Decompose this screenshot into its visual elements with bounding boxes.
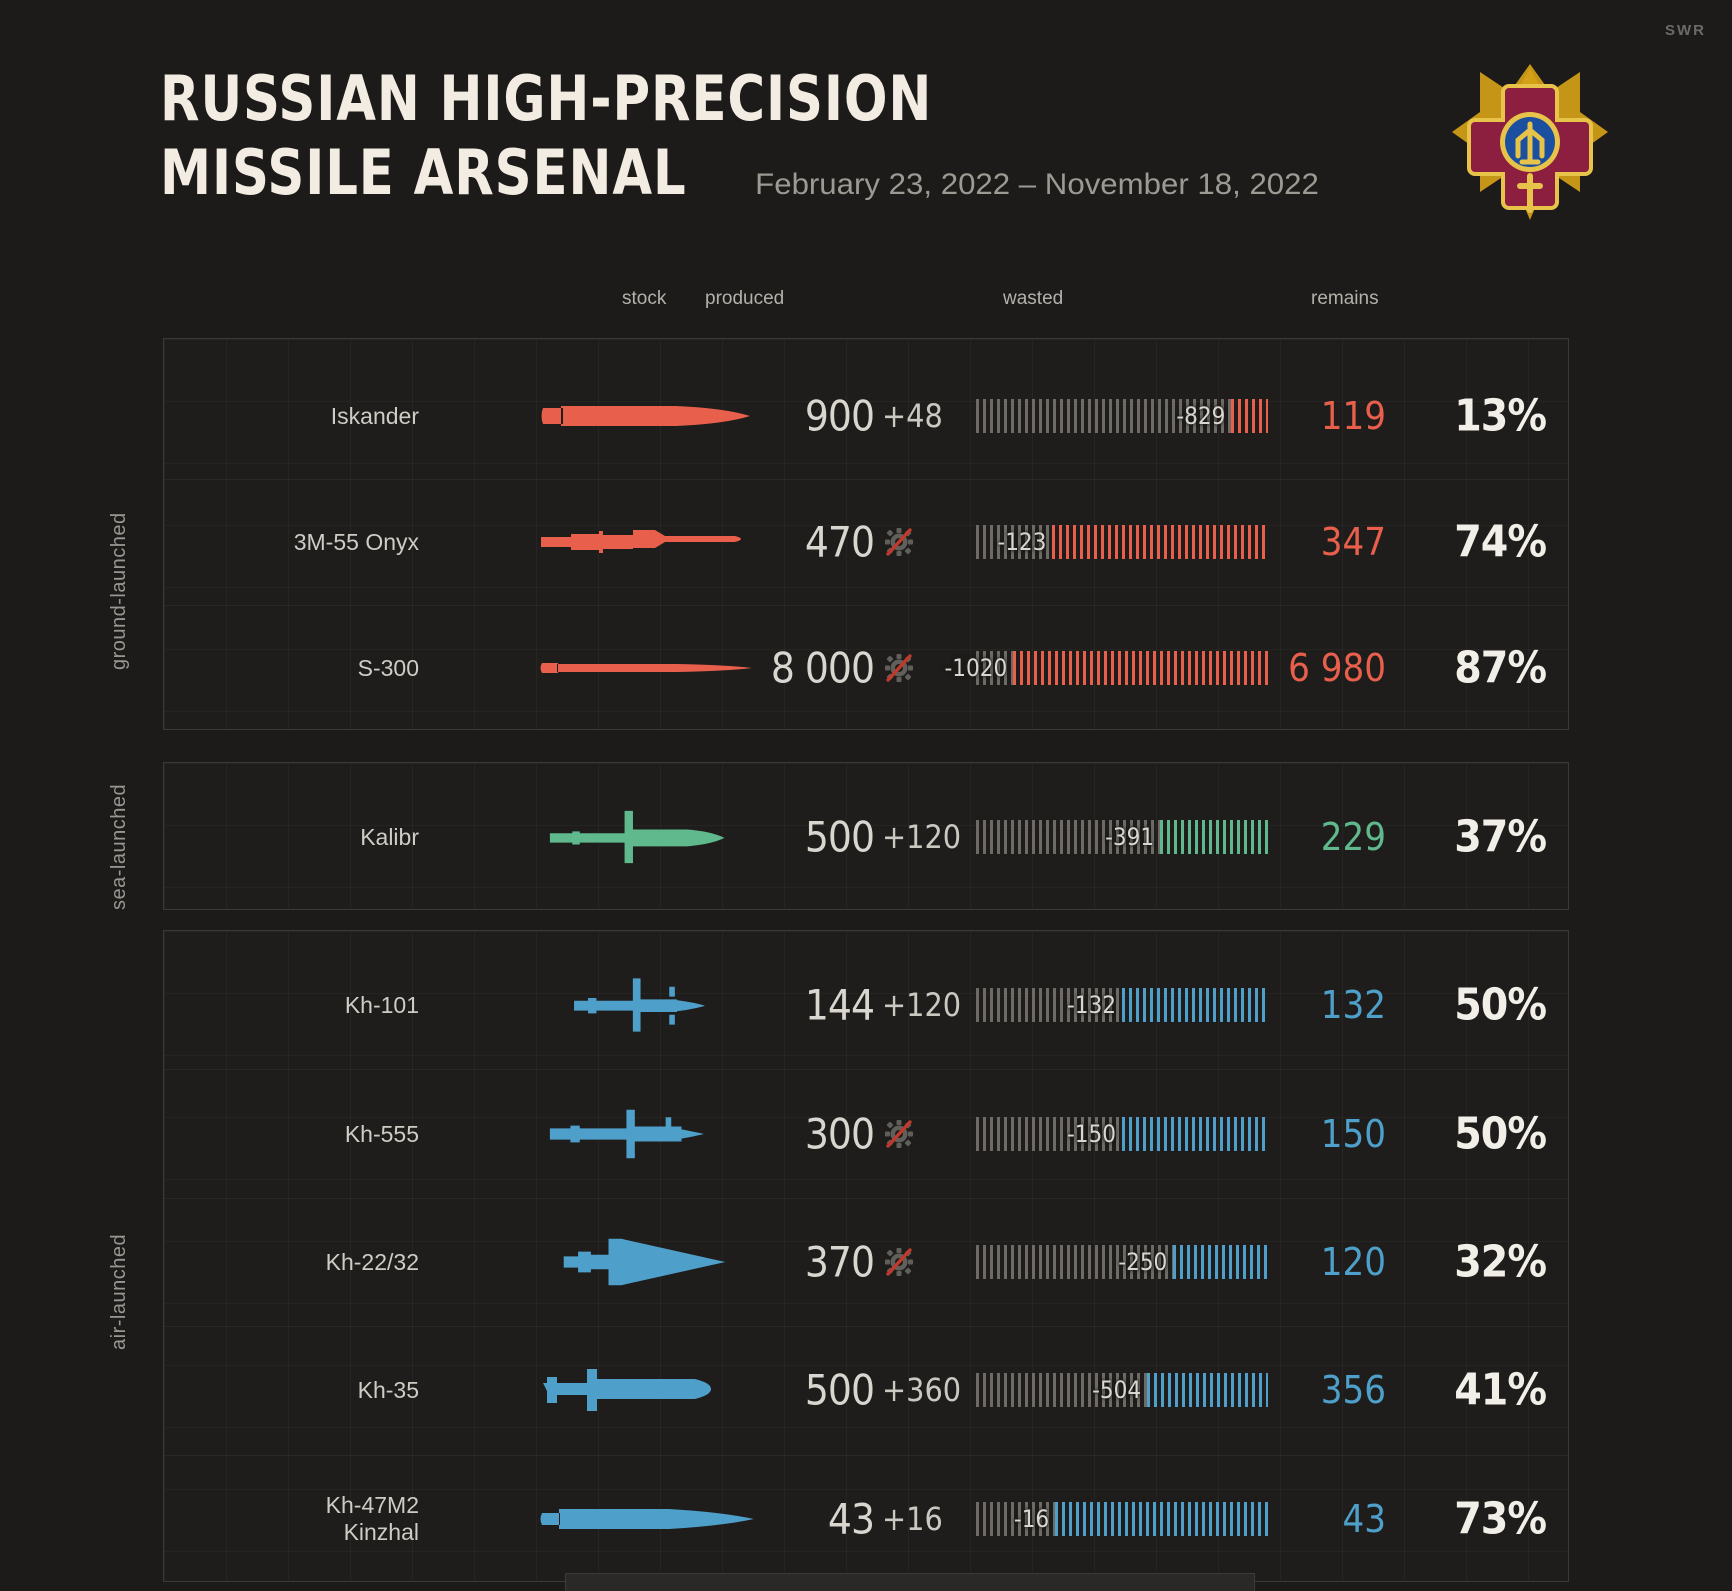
table-row[interactable]: 3M-55 Onyx470 -12334774%: [164, 479, 1568, 605]
bar-segment-wasted: -250: [976, 1245, 1173, 1279]
stock-value: 500: [754, 813, 874, 862]
remains-percent: 13%: [1396, 391, 1546, 442]
produced-none-icon: [882, 1117, 978, 1151]
column-header-produced: produced: [705, 288, 784, 310]
produced-value: +120: [882, 818, 978, 856]
group-label-air-launched: air-launched: [108, 1140, 131, 1350]
missile-s300-icon: [539, 640, 754, 696]
bar-segment-wasted: -391: [976, 820, 1160, 854]
remains-percent: 41%: [1396, 1365, 1546, 1416]
bar-segment-wasted: -150: [976, 1117, 1122, 1151]
missile-name: Kh-47M2Kinzhal: [224, 1492, 419, 1546]
remains-value: 150: [1236, 1112, 1386, 1156]
remains-percent: 37%: [1396, 812, 1546, 863]
remains-percent: 73%: [1396, 1493, 1546, 1544]
missile-iskander-icon: [539, 388, 754, 444]
stock-value: 900: [754, 392, 874, 441]
missile-name: 3M-55 Onyx: [224, 529, 419, 555]
bar-segment-wasted: -132: [976, 988, 1122, 1022]
table-row[interactable]: Kh-22/32370 -25012032%: [164, 1198, 1568, 1326]
stock-value: 8 000: [754, 644, 874, 693]
remains-percent: 50%: [1396, 1108, 1546, 1159]
missile-name: Kalibr: [224, 824, 419, 850]
produced-none-icon: [882, 1245, 978, 1279]
missile-kalibr-icon: [539, 809, 754, 865]
table-row[interactable]: Iskander900+48-82911913%: [164, 353, 1568, 479]
stock-value: 470: [754, 518, 874, 567]
column-header-remains: remains: [1311, 288, 1379, 310]
wasted-value: -123: [997, 528, 1046, 556]
usage-bar: -16: [976, 1502, 1268, 1536]
usage-bar: -829: [976, 399, 1268, 433]
page-title-line1: RUSSIAN HIGH-PRECISION: [160, 62, 1217, 136]
stock-value: 500: [754, 1366, 874, 1415]
wasted-value: -1020: [944, 654, 1007, 682]
group-panel-air-launched: Kh-101144+120-13213250%Kh-555300 -150150…: [163, 930, 1569, 1582]
usage-bar: -132: [976, 988, 1268, 1022]
wasted-value: -829: [1176, 402, 1225, 430]
missile-kh2232-icon: [539, 1234, 754, 1290]
stock-value: 300: [754, 1109, 874, 1158]
remains-value: 132: [1236, 983, 1386, 1027]
infographic-page: SWR RUSSIAN HIGH-PRECISION MISSILE ARSEN…: [0, 0, 1732, 1591]
bar-segment-wasted: -504: [976, 1373, 1147, 1407]
produced-value: +16: [882, 1500, 978, 1538]
remains-value: 43: [1236, 1497, 1386, 1541]
table-row[interactable]: Kh-47M2Kinzhal43+16-164373%: [164, 1455, 1568, 1583]
remains-value: 229: [1236, 815, 1386, 859]
missile-name: Kh-555: [224, 1121, 419, 1147]
missile-name: Iskander: [224, 403, 419, 429]
wasted-value: -250: [1118, 1248, 1167, 1276]
missile-kh101-icon: [539, 977, 754, 1033]
column-headers: stock produced wasted remains: [0, 288, 1732, 312]
remains-value: 119: [1236, 394, 1386, 438]
usage-bar: -1020: [976, 651, 1268, 685]
remains-percent: 74%: [1396, 517, 1546, 568]
usage-bar: -391: [976, 820, 1268, 854]
footer-scroll-bar[interactable]: [565, 1573, 1255, 1591]
table-row[interactable]: S-3008 000 -10206 98087%: [164, 605, 1568, 731]
wasted-value: -150: [1067, 1120, 1116, 1148]
missile-name: Kh-22/32: [224, 1249, 419, 1275]
missile-kh35-icon: [539, 1362, 754, 1418]
remains-value: 356: [1236, 1368, 1386, 1412]
stock-value: 144: [754, 981, 874, 1030]
produced-value: +360: [882, 1371, 978, 1409]
stock-value: 370: [754, 1237, 874, 1286]
page-title-line2: MISSILE ARSENAL: [160, 136, 687, 210]
remains-percent: 87%: [1396, 643, 1546, 694]
produced-none-icon: [882, 525, 978, 559]
missile-kinzhal-icon: [539, 1491, 754, 1547]
missile-kh555-icon: [539, 1106, 754, 1162]
stock-value: 43: [754, 1494, 874, 1543]
table-row[interactable]: Kh-35500+360-50435641%: [164, 1326, 1568, 1454]
date-range-subtitle: February 23, 2022 – November 18, 2022: [756, 168, 1320, 202]
usage-bar: -123: [976, 525, 1268, 559]
group-panel-ground-launched: Iskander900+48-82911913%3M-55 Onyx470 -1…: [163, 338, 1569, 730]
bar-segment-wasted: -16: [976, 1502, 1055, 1536]
remains-percent: 32%: [1396, 1236, 1546, 1287]
missile-name: Kh-35: [224, 1377, 419, 1403]
produced-value: +120: [882, 986, 978, 1024]
usage-bar: -250: [976, 1245, 1268, 1279]
remains-value: 6 980: [1236, 646, 1386, 690]
bar-segment-remains: [1013, 651, 1268, 685]
table-row[interactable]: Kalibr500+120-39122937%: [164, 763, 1568, 911]
table-row[interactable]: Kh-101144+120-13213250%: [164, 941, 1568, 1069]
page-header: RUSSIAN HIGH-PRECISION MISSILE ARSENAL F…: [160, 62, 1308, 210]
group-label-ground-launched: ground-launched: [108, 455, 131, 670]
wasted-value: -391: [1105, 823, 1154, 851]
remains-value: 120: [1236, 1240, 1386, 1284]
usage-bar: -150: [976, 1117, 1268, 1151]
table-row[interactable]: Kh-555300 -15015050%: [164, 1069, 1568, 1197]
group-panel-sea-launched: Kalibr500+120-39122937%: [163, 762, 1569, 910]
usage-bar: -504: [976, 1373, 1268, 1407]
missile-name: S-300: [224, 655, 419, 681]
bar-segment-wasted: -1020: [976, 651, 1013, 685]
bar-segment-wasted: -123: [976, 525, 1052, 559]
bar-segment-wasted: -829: [976, 399, 1231, 433]
group-label-sea-launched: sea-launched: [108, 760, 131, 910]
remains-percent: 50%: [1396, 980, 1546, 1031]
wasted-value: -504: [1092, 1376, 1141, 1404]
watermark-logo: SWR: [1665, 22, 1706, 39]
missile-name: Kh-101: [224, 992, 419, 1018]
column-header-wasted: wasted: [1003, 288, 1063, 310]
ukraine-armed-forces-emblem-icon: [1446, 58, 1614, 226]
wasted-value: -16: [1014, 1505, 1049, 1533]
produced-value: +48: [882, 397, 978, 435]
remains-value: 347: [1236, 520, 1386, 564]
column-header-stock: stock: [622, 288, 666, 310]
missile-onyx-icon: [539, 514, 754, 570]
wasted-value: -132: [1067, 991, 1116, 1019]
